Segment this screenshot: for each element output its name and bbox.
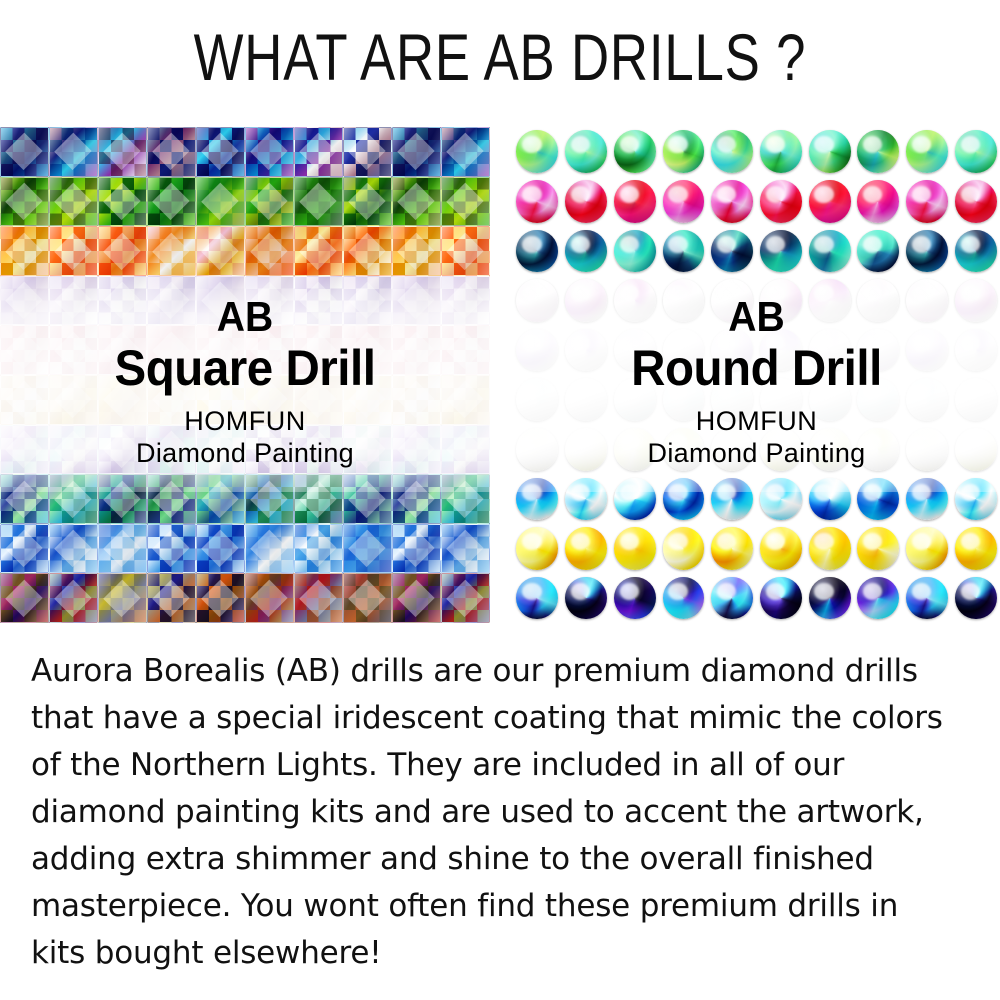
round-drill-cell: [562, 375, 611, 425]
round-drill-cell: [854, 127, 903, 177]
square-drill-icon: [245, 573, 294, 623]
round-drill-icon: [516, 180, 558, 223]
page-title: WHAT ARE AB DRILLS ?: [100, 18, 900, 96]
square-drill-icon: [392, 524, 441, 574]
square-drill-cell: [49, 276, 98, 326]
round-drill-cell: [854, 325, 903, 375]
square-drill-icon: [294, 375, 343, 425]
round-drill-cell: [951, 425, 1000, 475]
round-drill-cell: [610, 276, 659, 326]
round-drill-icon: [614, 279, 656, 322]
square-drill-icon: [245, 127, 294, 177]
round-drill-icon: [857, 428, 899, 471]
square-drill-cell: [245, 127, 294, 177]
round-drill-cell: [659, 325, 708, 375]
square-drill-icon: [98, 425, 147, 475]
round-drill-row: [513, 573, 1000, 623]
round-drill-cell: [757, 177, 806, 227]
round-drill-cell: [854, 177, 903, 227]
round-drill-icon: [663, 527, 705, 570]
square-drill-icon: [196, 226, 245, 276]
round-drill-icon: [809, 180, 851, 223]
round-drill-cell: [708, 127, 757, 177]
round-drill-grid: [513, 127, 1000, 623]
square-drill-cell: [441, 425, 490, 475]
round-drill-icon: [711, 577, 753, 620]
square-drill-icon: [343, 127, 392, 177]
square-drill-icon: [0, 524, 49, 574]
round-drill-icon: [565, 577, 607, 620]
round-drill-cell: [513, 226, 562, 276]
square-drill-row: [0, 127, 490, 177]
round-drill-row: [513, 474, 1000, 524]
square-drill-icon: [343, 425, 392, 475]
round-drill-icon: [663, 180, 705, 223]
round-drill-cell: [562, 325, 611, 375]
round-drill-icon: [565, 527, 607, 570]
square-drill-icon: [196, 573, 245, 623]
square-drill-icon: [196, 474, 245, 524]
round-drill-cell: [854, 474, 903, 524]
square-drill-icon: [294, 276, 343, 326]
round-drill-row: [513, 375, 1000, 425]
round-drill-cell: [951, 226, 1000, 276]
round-drill-cell: [805, 276, 854, 326]
round-drill-icon: [906, 478, 948, 521]
square-drill-cell: [147, 425, 196, 475]
round-drill-icon: [906, 428, 948, 471]
square-drill-icon: [0, 226, 49, 276]
square-drill-icon: [343, 573, 392, 623]
square-drill-cell: [98, 177, 147, 227]
round-drill-cell: [562, 177, 611, 227]
round-drill-cell: [659, 226, 708, 276]
round-drill-row: [513, 425, 1000, 475]
square-drill-icon: [294, 524, 343, 574]
square-drill-icon: [49, 425, 98, 475]
round-drill-cell: [708, 276, 757, 326]
square-drill-cell: [294, 375, 343, 425]
square-drill-row: [0, 474, 490, 524]
round-drill-icon: [614, 428, 656, 471]
square-drill-cell: [98, 524, 147, 574]
square-drill-icon: [343, 524, 392, 574]
round-drill-cell: [903, 573, 952, 623]
round-drill-cell: [903, 177, 952, 227]
square-drill-icon: [196, 524, 245, 574]
square-drill-icon: [245, 474, 294, 524]
round-drill-icon: [614, 230, 656, 273]
square-drill-icon: [392, 127, 441, 177]
round-drill-icon: [857, 279, 899, 322]
round-drill-cell: [805, 177, 854, 227]
round-drill-icon: [906, 378, 948, 421]
square-drill-icon: [245, 276, 294, 326]
square-drill-cell: [98, 573, 147, 623]
round-drill-cell: [805, 226, 854, 276]
square-drill-cell: [343, 474, 392, 524]
square-drill-icon: [147, 375, 196, 425]
round-drill-cell: [805, 325, 854, 375]
round-drill-cell: [805, 524, 854, 574]
round-drill-icon: [857, 130, 899, 173]
square-drill-icon: [0, 177, 49, 227]
round-drill-row: [513, 524, 1000, 574]
round-drill-cell: [610, 226, 659, 276]
round-drill-icon: [760, 577, 802, 620]
square-drill-icon: [392, 375, 441, 425]
square-drill-cell: [294, 226, 343, 276]
square-drill-cell: [49, 375, 98, 425]
square-drill-icon: [0, 325, 49, 375]
round-drill-cell: [562, 276, 611, 326]
round-drill-cell: [659, 375, 708, 425]
round-drill-icon: [955, 279, 997, 322]
square-drill-cell: [49, 127, 98, 177]
round-drill-icon: [614, 577, 656, 620]
square-drill-icon: [98, 474, 147, 524]
round-drill-cell: [854, 375, 903, 425]
round-drill-cell: [854, 226, 903, 276]
square-drill-cell: [294, 474, 343, 524]
round-drill-icon: [614, 130, 656, 173]
round-drill-cell: [610, 325, 659, 375]
round-drill-icon: [614, 180, 656, 223]
round-drill-cell: [610, 524, 659, 574]
square-drill-cell: [343, 127, 392, 177]
square-drill-icon: [441, 524, 490, 574]
round-drill-icon: [516, 478, 558, 521]
square-drill-icon: [49, 573, 98, 623]
square-drill-cell: [245, 573, 294, 623]
square-drill-cell: [49, 573, 98, 623]
round-drill-cell: [708, 226, 757, 276]
round-drill-icon: [955, 230, 997, 273]
round-drill-cell: [757, 325, 806, 375]
square-drill-cell: [343, 226, 392, 276]
round-drill-icon: [955, 577, 997, 620]
round-drill-icon: [906, 527, 948, 570]
square-drill-icon: [343, 325, 392, 375]
square-drill-icon: [98, 375, 147, 425]
round-drill-cell: [610, 177, 659, 227]
round-drill-icon: [857, 577, 899, 620]
square-drill-cell: [343, 177, 392, 227]
round-drill-icon: [663, 577, 705, 620]
square-drill-icon: [245, 375, 294, 425]
round-drill-cell: [951, 325, 1000, 375]
round-drill-icon: [516, 428, 558, 471]
square-drill-icon: [49, 276, 98, 326]
round-drill-cell: [659, 573, 708, 623]
square-drill-icon: [245, 226, 294, 276]
round-drill-cell: [708, 325, 757, 375]
round-drill-icon: [760, 230, 802, 273]
round-drill-icon: [955, 428, 997, 471]
round-drill-icon: [711, 279, 753, 322]
square-drill-icon: [147, 325, 196, 375]
square-drill-row: [0, 325, 490, 375]
square-drill-cell: [441, 375, 490, 425]
square-drill-cell: [294, 524, 343, 574]
round-drill-icon: [760, 279, 802, 322]
square-drill-icon: [294, 325, 343, 375]
round-drill-cell: [513, 425, 562, 475]
square-drill-cell: [392, 474, 441, 524]
square-drill-cell: [0, 524, 49, 574]
square-drill-cell: [49, 226, 98, 276]
square-drill-cell: [147, 226, 196, 276]
round-drill-icon: [760, 180, 802, 223]
round-drill-cell: [757, 127, 806, 177]
square-drill-icon: [147, 524, 196, 574]
square-drill-cell: [392, 276, 441, 326]
square-drill-cell: [98, 325, 147, 375]
round-drill-cell: [805, 127, 854, 177]
square-drill-icon: [147, 425, 196, 475]
round-drill-icon: [809, 428, 851, 471]
round-drill-cell: [903, 474, 952, 524]
square-drill-icon: [392, 474, 441, 524]
round-drill-cell: [951, 127, 1000, 177]
round-drill-icon: [809, 329, 851, 372]
square-drill-cell: [441, 524, 490, 574]
round-drill-cell: [951, 177, 1000, 227]
square-drill-icon: [98, 226, 147, 276]
round-drill-icon: [760, 130, 802, 173]
square-drill-row: [0, 276, 490, 326]
square-drill-cell: [343, 276, 392, 326]
round-drill-icon: [857, 478, 899, 521]
round-drill-cell: [903, 425, 952, 475]
square-drill-icon: [392, 226, 441, 276]
square-drill-cell: [147, 127, 196, 177]
round-drill-cell: [708, 375, 757, 425]
square-drill-icon: [441, 375, 490, 425]
round-drill-cell: [562, 127, 611, 177]
square-drill-cell: [441, 276, 490, 326]
round-drill-icon: [857, 527, 899, 570]
round-drill-icon: [663, 230, 705, 273]
square-drill-icon: [147, 276, 196, 326]
round-drill-icon: [614, 527, 656, 570]
square-drill-cell: [147, 325, 196, 375]
square-drill-cell: [245, 177, 294, 227]
round-drill-row: [513, 276, 1000, 326]
round-drill-cell: [562, 474, 611, 524]
square-drill-cell: [392, 177, 441, 227]
round-drill-cell: [757, 425, 806, 475]
square-drill-cell: [441, 325, 490, 375]
round-drill-icon: [711, 378, 753, 421]
square-drill-icon: [49, 127, 98, 177]
round-drill-icon: [565, 279, 607, 322]
round-drill-icon: [516, 378, 558, 421]
square-drill-cell: [147, 375, 196, 425]
round-drill-cell: [951, 276, 1000, 326]
round-drill-cell: [708, 177, 757, 227]
square-drill-cell: [98, 276, 147, 326]
square-drill-icon: [0, 573, 49, 623]
round-drill-cell: [659, 425, 708, 475]
round-drill-cell: [805, 425, 854, 475]
round-drill-icon: [857, 180, 899, 223]
square-drill-icon: [343, 276, 392, 326]
square-drill-icon: [196, 127, 245, 177]
square-drill-icon: [147, 474, 196, 524]
round-drill-icon: [516, 527, 558, 570]
square-drill-icon: [294, 425, 343, 475]
square-drill-cell: [147, 573, 196, 623]
square-drill-cell: [49, 474, 98, 524]
round-drill-cell: [659, 524, 708, 574]
square-drill-icon: [392, 425, 441, 475]
round-drill-icon: [663, 329, 705, 372]
round-drill-cell: [903, 226, 952, 276]
round-drill-cell: [513, 127, 562, 177]
square-drill-icon: [294, 127, 343, 177]
square-drill-cell: [49, 177, 98, 227]
square-drill-cell: [392, 226, 441, 276]
round-drill-cell: [903, 375, 952, 425]
square-drill-row: [0, 375, 490, 425]
square-drill-cell: [0, 325, 49, 375]
round-drill-icon: [809, 279, 851, 322]
square-drill-icon: [0, 375, 49, 425]
round-drill-cell: [951, 573, 1000, 623]
round-drill-icon: [906, 230, 948, 273]
round-drill-icon: [614, 329, 656, 372]
round-drill-icon: [711, 478, 753, 521]
square-drill-cell: [196, 474, 245, 524]
round-drill-cell: [805, 375, 854, 425]
square-drill-icon: [49, 325, 98, 375]
square-drill-cell: [98, 474, 147, 524]
square-drill-cell: [441, 226, 490, 276]
round-drill-cell: [513, 375, 562, 425]
square-drill-cell: [196, 573, 245, 623]
square-drill-icon: [147, 226, 196, 276]
round-drill-cell: [903, 524, 952, 574]
round-drill-icon: [955, 378, 997, 421]
square-drill-icon: [49, 177, 98, 227]
square-drill-cell: [196, 276, 245, 326]
round-drill-icon: [760, 329, 802, 372]
square-drill-grid: [0, 127, 490, 623]
square-drill-icon: [294, 177, 343, 227]
round-drill-cell: [513, 177, 562, 227]
square-drill-cell: [98, 127, 147, 177]
round-drill-icon: [906, 180, 948, 223]
round-drill-icon: [760, 527, 802, 570]
square-drill-icon: [98, 573, 147, 623]
round-drill-icon: [857, 230, 899, 273]
round-drill-icon: [857, 378, 899, 421]
round-drill-cell: [757, 276, 806, 326]
square-drill-icon: [0, 425, 49, 475]
square-drill-cell: [294, 177, 343, 227]
round-drill-cell: [854, 573, 903, 623]
square-drill-cell: [196, 226, 245, 276]
round-drill-cell: [562, 425, 611, 475]
square-drill-icon: [196, 177, 245, 227]
round-drill-icon: [663, 378, 705, 421]
square-drill-cell: [392, 573, 441, 623]
square-drill-cell: [343, 425, 392, 475]
square-drill-icon: [441, 425, 490, 475]
round-drill-cell: [610, 474, 659, 524]
round-drill-cell: [610, 573, 659, 623]
round-drill-cell: [562, 226, 611, 276]
square-drill-cell: [196, 425, 245, 475]
square-drill-icon: [98, 276, 147, 326]
round-drill-cell: [610, 425, 659, 475]
square-drill-icon: [98, 325, 147, 375]
square-drill-cell: [98, 425, 147, 475]
round-drill-icon: [955, 329, 997, 372]
square-drill-icon: [441, 177, 490, 227]
square-drill-cell: [245, 524, 294, 574]
square-drill-cell: [147, 474, 196, 524]
round-drill-icon: [565, 230, 607, 273]
square-drill-icon: [245, 325, 294, 375]
round-drill-icon: [809, 577, 851, 620]
square-drill-icon: [441, 325, 490, 375]
square-drill-cell: [0, 573, 49, 623]
round-drill-cell: [757, 375, 806, 425]
square-drill-cell: [343, 573, 392, 623]
square-drill-icon: [441, 573, 490, 623]
square-drill-icon: [245, 524, 294, 574]
square-drill-icon: [196, 276, 245, 326]
square-drill-row: [0, 226, 490, 276]
square-drill-icon: [392, 177, 441, 227]
square-drill-icon: [49, 226, 98, 276]
round-drill-icon: [809, 230, 851, 273]
round-drill-cell: [757, 474, 806, 524]
square-drill-cell: [294, 276, 343, 326]
square-drill-cell: [0, 276, 49, 326]
round-drill-icon: [906, 279, 948, 322]
round-drill-icon: [809, 130, 851, 173]
square-drill-cell: [392, 524, 441, 574]
description-paragraph: Aurora Borealis (AB) drills are our prem…: [31, 648, 981, 977]
round-drill-icon: [857, 329, 899, 372]
round-drill-cell: [562, 573, 611, 623]
square-drill-icon: [245, 177, 294, 227]
square-drill-icon: [441, 474, 490, 524]
square-drill-cell: [245, 226, 294, 276]
round-drill-cell: [708, 425, 757, 475]
round-drill-cell: [659, 276, 708, 326]
round-drill-icon: [565, 329, 607, 372]
square-drill-cell: [196, 375, 245, 425]
round-drill-icon: [760, 478, 802, 521]
round-drill-icon: [711, 329, 753, 372]
square-drill-icon: [49, 524, 98, 574]
square-drill-icon: [441, 127, 490, 177]
round-drill-icon: [565, 478, 607, 521]
square-drill-cell: [196, 177, 245, 227]
round-drill-icon: [516, 130, 558, 173]
square-drill-panel: AB Square Drill HOMFUN Diamond Painting: [0, 127, 490, 623]
square-drill-cell: [392, 325, 441, 375]
round-drill-cell: [610, 375, 659, 425]
square-drill-icon: [245, 425, 294, 475]
round-drill-icon: [711, 428, 753, 471]
round-drill-icon: [663, 130, 705, 173]
round-drill-icon: [516, 279, 558, 322]
